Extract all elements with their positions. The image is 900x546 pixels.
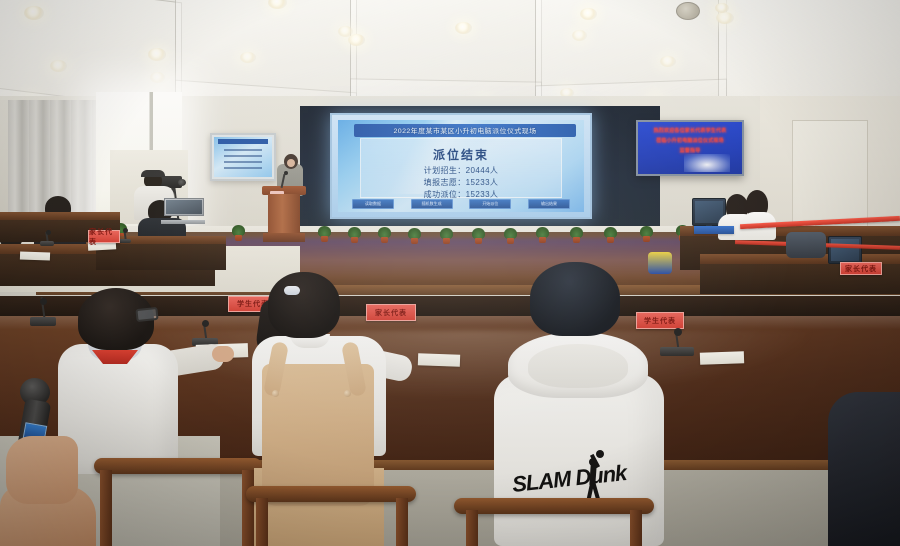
document-paper — [20, 251, 50, 260]
wall-tv — [210, 133, 276, 181]
led-banner-glare — [684, 154, 730, 172]
ceiling-light — [580, 8, 597, 20]
nameplate-label: 家长代表 — [375, 308, 407, 318]
nameplate: 家长代表 — [366, 304, 416, 321]
desk-microphone — [192, 322, 218, 346]
student-right-head — [530, 262, 620, 336]
ceiling-light — [715, 3, 729, 13]
nameplate: 家长代表 — [88, 230, 120, 243]
ceiling-speaker-icon — [676, 2, 700, 20]
student-left-hand — [212, 346, 234, 362]
basketball-player-icon — [582, 452, 604, 504]
slide-button-read-data[interactable]: 读取数据 — [352, 199, 394, 209]
tape-measure — [648, 252, 672, 274]
wall-tv-screen — [214, 137, 272, 177]
slide-stat-line: 计划招生：20444人 — [361, 165, 561, 176]
potted-plant — [378, 226, 391, 243]
ceiling-light — [148, 48, 166, 61]
desk-microphone — [30, 300, 56, 326]
slide-button-random[interactable]: 随机数生成 — [411, 199, 453, 209]
hair-scrunchie — [284, 286, 300, 295]
desk-microphone — [660, 330, 694, 356]
potted-plant — [604, 226, 617, 243]
interviewer-hand — [6, 436, 78, 504]
potted-plant — [408, 227, 421, 244]
ceiling-light — [240, 52, 256, 63]
ceiling-light — [24, 6, 44, 20]
nameplate: 家长代表 — [840, 262, 882, 275]
document-paper — [418, 353, 460, 366]
potted-plant — [472, 227, 485, 244]
ceiling-light — [150, 72, 165, 83]
ceiling-light — [455, 22, 472, 34]
chair[interactable] — [94, 458, 262, 546]
pinafore-button — [272, 390, 279, 397]
projected-slide: 2022年度某市某区小升初电脑派位仪式现场 派位结束 计划招生：20444人 填… — [338, 120, 584, 212]
ceiling-light — [338, 26, 353, 37]
potted-plant — [504, 227, 517, 244]
nameplate-label: 家长代表 — [845, 264, 877, 274]
camera-lens-icon — [178, 179, 186, 186]
nameplate-label: 学生代表 — [644, 316, 676, 326]
projection-screen: 2022年度某市某区小升初电脑派位仪式现场 派位结束 计划招生：20444人 填… — [330, 113, 592, 219]
ceiling-light — [572, 30, 587, 41]
laptop[interactable] — [164, 198, 202, 224]
led-banner-display: 热烈欢迎各位家长代表学生代表 莅临小升初电脑派位仪式现场 监督指导 — [636, 120, 744, 176]
glasses-icon — [135, 307, 158, 322]
led-banner-line: 监督指导 — [641, 147, 739, 154]
potted-plant — [232, 224, 245, 241]
chair[interactable] — [454, 498, 654, 546]
slide-banner: 2022年度某市某区小升初电脑派位仪式现场 — [354, 124, 576, 137]
ceiling-light — [348, 34, 365, 46]
potted-plant — [348, 226, 361, 243]
document-paper — [700, 351, 744, 365]
slide-button-row: 读取数据 随机数生成 开始派位 输出结果 — [352, 199, 570, 209]
speaker-face — [287, 159, 295, 167]
led-banner-line: 莅临小升初电脑派位仪式现场 — [641, 137, 739, 144]
podium-body — [268, 194, 300, 234]
desk-microphone — [40, 232, 54, 246]
potted-plant — [440, 227, 453, 244]
podium-base — [263, 233, 305, 242]
pinafore-button — [344, 390, 351, 397]
potted-plant — [570, 226, 583, 243]
slide-title: 派位结束 — [361, 146, 561, 163]
seated-person-right-edge — [828, 392, 900, 546]
nameplate: 学生代表 — [636, 312, 684, 329]
chair[interactable] — [246, 486, 416, 546]
wall-tv-banner — [218, 139, 268, 144]
potted-plant — [536, 226, 549, 243]
ceiling-light — [660, 56, 676, 67]
hoodie-hood-inner — [528, 344, 628, 388]
slide-button-output[interactable]: 输出结果 — [528, 199, 570, 209]
led-banner-line: 热烈欢迎各位家长代表学生代表 — [641, 127, 739, 134]
slide-stat-line: 填报志愿：15233人 — [361, 177, 561, 188]
ceiling-light — [50, 60, 67, 72]
potted-plant — [640, 225, 653, 242]
nameplate-label: 家长代表 — [89, 227, 119, 247]
podium — [262, 186, 306, 242]
desktop-monitor[interactable] — [828, 236, 862, 264]
table-reflection — [120, 330, 820, 400]
slide-button-start[interactable]: 开始派位 — [469, 199, 511, 209]
student-middle-head — [268, 272, 340, 338]
hoodie-print-text: SLAM Dunk — [511, 460, 628, 498]
blue-folder — [694, 226, 734, 234]
slide-banner-text: 2022年度某市某区小升初电脑派位仪式现场 — [394, 126, 537, 135]
slide-body: 派位结束 计划招生：20444人 填报志愿：15233人 成功派位：15233人 — [360, 138, 562, 198]
office-chair[interactable] — [786, 232, 826, 258]
ceiling-light — [716, 12, 734, 24]
podium-microphone-head-icon — [284, 171, 288, 175]
potted-plant — [318, 225, 331, 242]
photo-scene: 2022年度某市某区小升初电脑派位仪式现场 派位结束 计划招生：20444人 填… — [0, 0, 900, 546]
